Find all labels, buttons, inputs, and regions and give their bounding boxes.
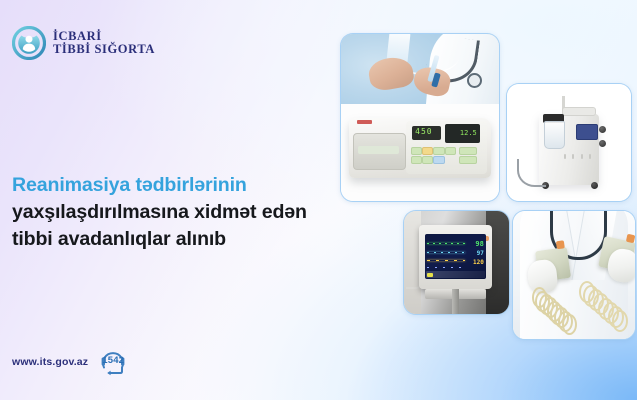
patient-vital-signs-monitor-photo[interactable]: 98 97 120 [403,210,510,315]
news-banner-canvas: İCBARİ TİBBİ SIĞORTA Reanimasiya tədbirl… [0,0,637,400]
brand-line-1: İCBARİ [53,30,155,44]
infusion-syringe-pump-photo[interactable] [340,33,500,202]
defib-cable-coil-right [576,278,630,337]
infusion-pump-illustration [341,34,499,201]
hotline-number: 1542 [96,355,130,366]
website-link[interactable]: www.its.gov.az [12,356,88,368]
oxygen-concentrator-illustration [507,84,631,201]
vital-value-1: 98 [475,240,483,248]
brand-wordmark: İCBARİ TİBBİ SIĞORTA [53,30,155,57]
patient-monitor-illustration: 98 97 120 [404,211,509,314]
page-title: Reanimasiya tədbirlərinin yaxşılaşdırılm… [12,172,328,253]
its-circle-person-icon [12,26,46,60]
vital-value-2: 97 [477,250,484,257]
headline-accent-line: Reanimasiya tədbirlərinin [12,172,328,199]
brand-logo[interactable]: İCBARİ TİBBİ SIĞORTA [12,26,155,60]
vital-value-3: 120 [473,259,484,266]
defibrillator-illustration [513,211,635,339]
oxygen-concentrator-photo[interactable] [506,83,632,202]
headline-line-3: tibbi avadanlıqlar alınıb [12,226,328,253]
hotline-badge[interactable]: 1542 [96,348,130,376]
brand-line-2: TİBBİ SIĞORTA [53,43,155,57]
footer-contact: www.its.gov.az 1542 [12,348,130,376]
defibrillator-paddles-photo[interactable] [512,210,636,340]
headline-line-2: yaxşılaşdırılmasına xidmət edən [12,199,328,226]
